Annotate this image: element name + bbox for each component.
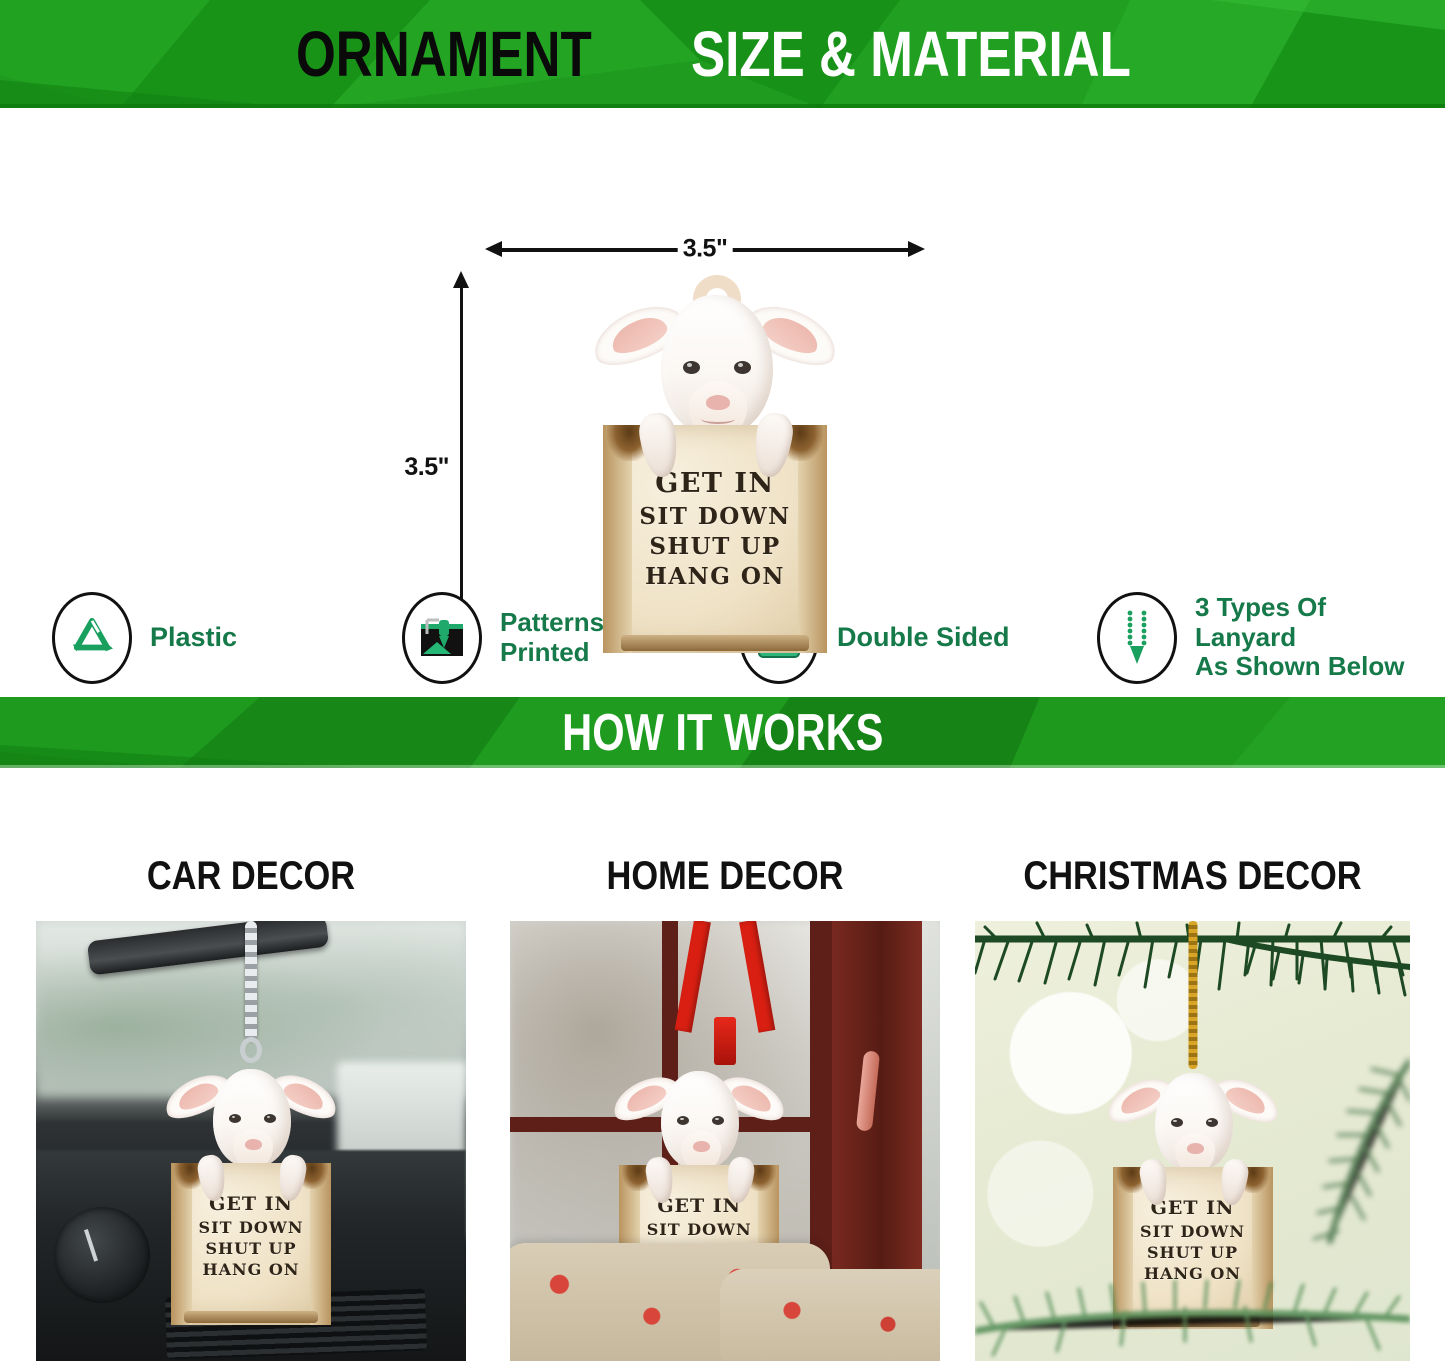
feature-label: Plastic xyxy=(150,622,237,653)
header-title-part1: ORNAMENT xyxy=(296,22,592,86)
ornament-in-car: GET IN SIT DOWN SHUT UP HANG ON xyxy=(161,1059,341,1329)
how-it-works-banner: HOW IT WORKS xyxy=(0,697,1445,768)
ball-chain-hanger xyxy=(245,921,257,1041)
recycle-icon-glyph xyxy=(69,617,115,659)
usage-title: CAR DECOR xyxy=(66,854,436,899)
car-decor-photo: GET IN SIT DOWN SHUT UP HANG ON xyxy=(36,921,466,1361)
quote-line-1: GET IN xyxy=(603,466,827,502)
quote-line-4: HANG ON xyxy=(603,562,827,592)
pine-branch-bottom xyxy=(975,1211,1410,1361)
feature-plastic: Plastic xyxy=(52,592,352,684)
quote-line-2: SIT DOWN xyxy=(603,502,827,532)
usage-examples: CAR DECOR xyxy=(0,768,1445,1363)
lanyard-icon xyxy=(1097,592,1177,684)
ornament-product-image: GET IN SIT DOWN SHUT UP HANG ON xyxy=(585,273,845,658)
goat-eye-left xyxy=(683,361,700,374)
goat-nose xyxy=(706,395,730,410)
header-title: ORNAMENT SIZE & MATERIAL xyxy=(0,0,1445,108)
usage-christmas: CHRISTMAS DECOR xyxy=(975,768,1410,1361)
usage-car: CAR DECOR xyxy=(36,768,466,1361)
home-decor-photo: GET IN SIT DOWN SHUT UP HANG ON xyxy=(510,921,940,1361)
quote-line-3: SHUT UP xyxy=(603,532,827,562)
feature-lanyard: 3 Types Of Lanyard As Shown Below xyxy=(1097,592,1427,684)
quote-line-4: HANG ON xyxy=(171,1259,331,1280)
arrow-up-icon xyxy=(453,271,469,288)
quote-line-2: SIT DOWN xyxy=(619,1219,779,1240)
recycle-icon xyxy=(52,592,132,684)
christmas-decor-photo: GET IN SIT DOWN SHUT UP HANG ON xyxy=(975,921,1410,1361)
feature-label-line2: As Shown Below xyxy=(1195,651,1404,681)
gold-cord-hanger xyxy=(1188,921,1197,1069)
red-ribbon-hanger xyxy=(690,921,760,1071)
printer-icon xyxy=(402,592,482,684)
quote-line-1: GET IN xyxy=(171,1192,331,1217)
width-dimension: 3.5" xyxy=(485,241,925,257)
height-value: 3.5" xyxy=(404,453,449,482)
quote-line-2: SIT DOWN xyxy=(171,1217,331,1238)
usage-title: HOME DECOR xyxy=(540,854,910,899)
header-title-part2: SIZE & MATERIAL xyxy=(691,22,1131,86)
header-banner: ORNAMENT SIZE & MATERIAL xyxy=(0,0,1445,108)
width-value: 3.5" xyxy=(678,235,733,264)
parchment-sign: GET IN SIT DOWN SHUT UP HANG ON xyxy=(603,425,827,653)
quote-line-1: GET IN xyxy=(619,1194,779,1219)
arrow-right-icon xyxy=(908,241,925,257)
ornament-quote: GET IN SIT DOWN SHUT UP HANG ON xyxy=(603,466,827,593)
quote-line-3: SHUT UP xyxy=(171,1238,331,1259)
goat-eye-right xyxy=(734,361,751,374)
usage-home: HOME DECOR xyxy=(510,768,940,1361)
how-it-works-title-wrap: HOW IT WORKS xyxy=(0,697,1445,768)
cushion-right xyxy=(720,1269,940,1361)
goat-mouth xyxy=(701,414,735,424)
ornament-quote: GET IN SIT DOWN SHUT UP HANG ON xyxy=(171,1192,331,1280)
printer-icon-glyph xyxy=(417,614,467,662)
feature-label-line1: 3 Types Of Lanyard xyxy=(1195,592,1326,652)
how-it-works-title: HOW IT WORKS xyxy=(562,707,883,759)
feature-label: Double Sided xyxy=(837,622,1010,653)
lanyard-icon-glyph xyxy=(1117,608,1157,668)
arrow-left-icon xyxy=(485,241,502,257)
feature-label: 3 Types Of Lanyard As Shown Below xyxy=(1195,593,1427,683)
scroll-curl-bottom xyxy=(621,635,809,651)
size-diagram-area: 3.5" 3.5" xyxy=(0,108,1445,578)
feature-label-line2: Printed xyxy=(500,637,590,667)
usage-title: CHRISTMAS DECOR xyxy=(1005,854,1379,899)
